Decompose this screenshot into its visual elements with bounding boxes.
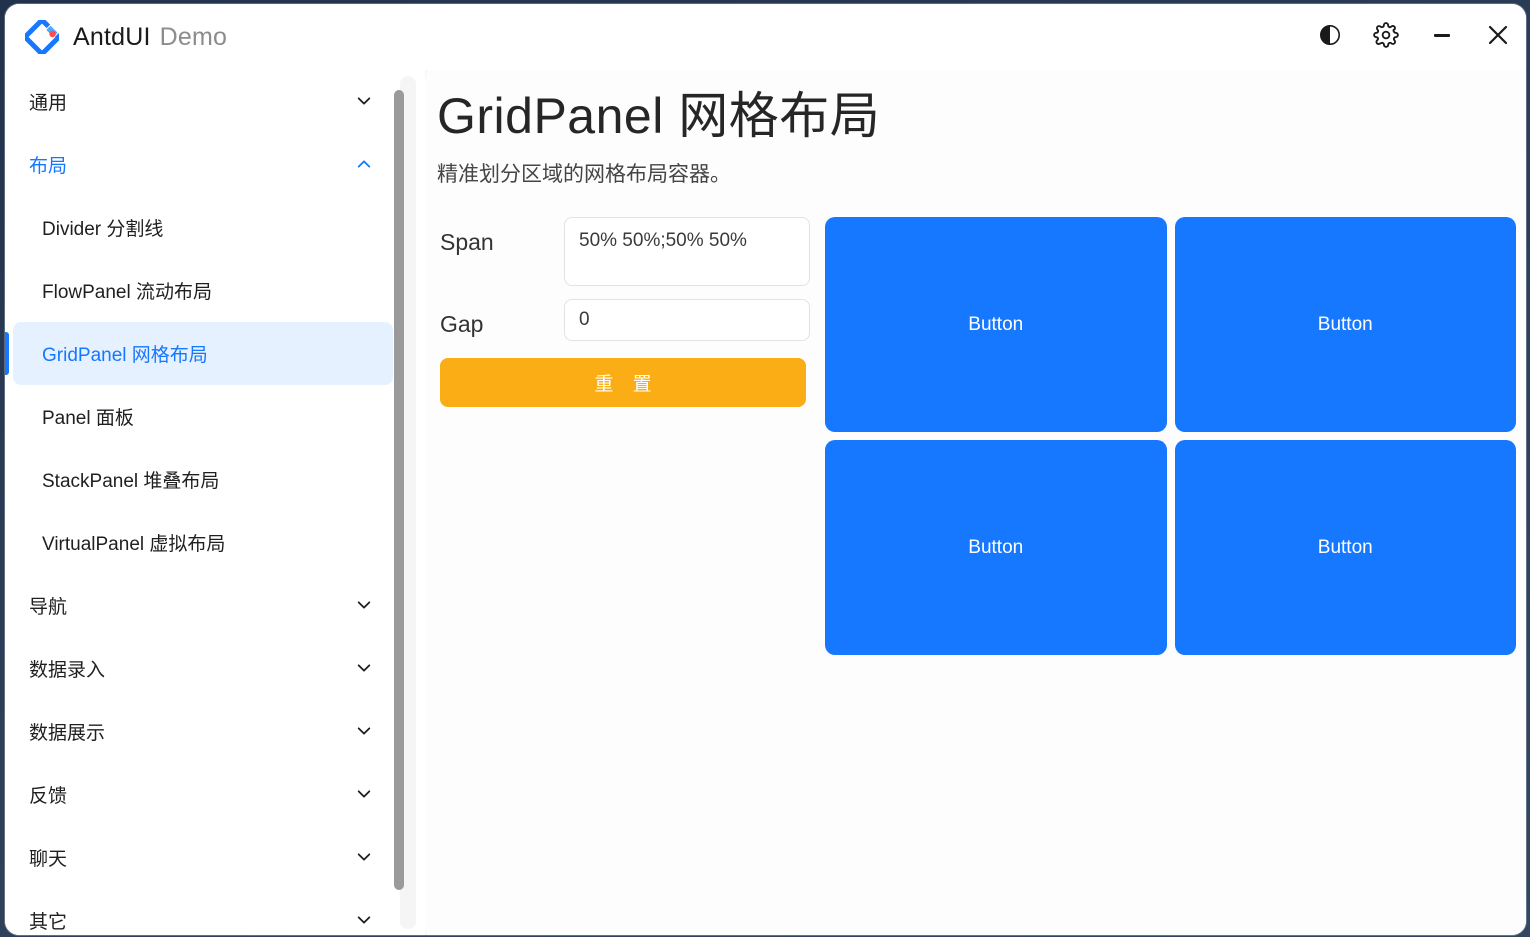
sidebar-group-label: 数据展示: [29, 718, 105, 745]
settings-form: Span Gap 重 置: [437, 217, 807, 407]
sidebar-group-label: 其它: [29, 907, 67, 934]
close-icon: [1484, 21, 1512, 54]
sidebar-group-0[interactable]: 通用: [5, 70, 401, 133]
sidebar-item-1-1[interactable]: FlowPanel 流动布局: [13, 259, 393, 322]
sidebar-group-5[interactable]: 反馈: [5, 763, 401, 826]
sidebar-menu-list: 通用布局Divider 分割线FlowPanel 流动布局GridPanel 网…: [5, 70, 401, 935]
sidebar-item-label: FlowPanel 流动布局: [42, 277, 212, 304]
chevron-down-icon: [355, 786, 373, 804]
span-label: Span: [440, 217, 564, 256]
sidebar-scrollbar-track[interactable]: [400, 76, 416, 929]
sidebar-item-1-4[interactable]: StackPanel 堆叠布局: [13, 448, 393, 511]
application-window: AntdUIDemo: [5, 4, 1526, 935]
main-content: GridPanel 网格布局 精准划分区域的网格布局容器。 Span: [425, 70, 1526, 935]
sidebar-group-6[interactable]: 聊天: [5, 826, 401, 889]
span-field-wrapper: [564, 217, 810, 286]
sidebar-group-1[interactable]: 布局: [5, 133, 401, 196]
chevron-down-icon: [355, 912, 373, 930]
sidebar-group-label: 反馈: [29, 781, 67, 808]
sidebar-scrollbar-thumb[interactable]: [394, 90, 404, 890]
sidebar-item-label: Panel 面板: [42, 403, 134, 430]
sidebar-group-2[interactable]: 导航: [5, 574, 401, 637]
grid-cell-label: Button: [968, 537, 1023, 559]
sidebar-item-label: Divider 分割线: [42, 214, 163, 241]
settings-button[interactable]: [1358, 9, 1414, 65]
close-button[interactable]: [1470, 9, 1526, 65]
title-bar: AntdUIDemo: [5, 4, 1526, 70]
antdui-logo-icon: [25, 20, 59, 54]
chevron-down-icon: [355, 849, 373, 867]
sidebar-group-label: 布局: [29, 151, 67, 178]
sidebar-group-label: 通用: [29, 88, 67, 115]
span-form-row: Span: [440, 217, 807, 286]
demo-area: Span Gap 重 置: [437, 217, 1512, 655]
chevron-down-icon: [355, 597, 373, 615]
window-title: AntdUIDemo: [73, 23, 227, 52]
gear-icon: [1373, 22, 1399, 53]
grid-cell-label: Button: [968, 314, 1023, 336]
app-subtitle: Demo: [160, 23, 228, 51]
page-subtitle: 精准划分区域的网格布局容器。: [437, 158, 1512, 188]
sidebar-group-label: 聊天: [29, 844, 67, 871]
chevron-down-icon: [355, 93, 373, 111]
sidebar-group-7[interactable]: 其它: [5, 889, 401, 935]
sidebar-item-label: StackPanel 堆叠布局: [42, 466, 219, 493]
sidebar-item-label: GridPanel 网格布局: [42, 340, 208, 367]
sidebar-item-1-2[interactable]: GridPanel 网格布局: [13, 322, 393, 385]
gap-form-row: Gap: [440, 299, 807, 341]
sidebar-group-label: 导航: [29, 592, 67, 619]
grid-cell-label: Button: [1318, 537, 1373, 559]
sidebar-navigation: 通用布局Divider 分割线FlowPanel 流动布局GridPanel 网…: [5, 70, 425, 935]
sidebar-group-4[interactable]: 数据展示: [5, 700, 401, 763]
grid-panel-preview: ButtonButtonButtonButton: [825, 217, 1516, 655]
sidebar-item-1-5[interactable]: VirtualPanel 虚拟布局: [13, 511, 393, 574]
contrast-icon: [1318, 23, 1342, 52]
sidebar-item-1-0[interactable]: Divider 分割线: [13, 196, 393, 259]
sidebar-group-3[interactable]: 数据录入: [5, 637, 401, 700]
sidebar-item-label: VirtualPanel 虚拟布局: [42, 529, 225, 556]
sidebar-group-label: 数据录入: [29, 655, 105, 682]
chevron-down-icon: [355, 723, 373, 741]
minimize-button[interactable]: [1414, 9, 1470, 65]
gap-input[interactable]: [564, 299, 810, 341]
desktop-background: AntdUIDemo: [0, 0, 1530, 937]
grid-cell-button-1[interactable]: Button: [1175, 217, 1517, 432]
grid-cell-button-3[interactable]: Button: [1175, 440, 1517, 655]
page-title: GridPanel 网格布局: [437, 86, 1512, 146]
main-inner: GridPanel 网格布局 精准划分区域的网格布局容器。 Span: [425, 70, 1526, 655]
application-body: 通用布局Divider 分割线FlowPanel 流动布局GridPanel 网…: [5, 70, 1526, 935]
grid-cell-label: Button: [1318, 314, 1373, 336]
chevron-down-icon: [355, 660, 373, 678]
app-name: AntdUI: [73, 23, 151, 51]
gap-field-wrapper: [564, 299, 810, 341]
span-input[interactable]: [564, 217, 810, 286]
theme-toggle-button[interactable]: [1302, 9, 1358, 65]
chevron-up-icon: [355, 156, 373, 174]
grid-cell-button-0[interactable]: Button: [825, 217, 1167, 432]
minimize-icon: [1429, 22, 1455, 53]
sidebar-item-1-3[interactable]: Panel 面板: [13, 385, 393, 448]
gap-label: Gap: [440, 299, 564, 338]
grid-cell-button-2[interactable]: Button: [825, 440, 1167, 655]
reset-button[interactable]: 重 置: [440, 358, 806, 407]
